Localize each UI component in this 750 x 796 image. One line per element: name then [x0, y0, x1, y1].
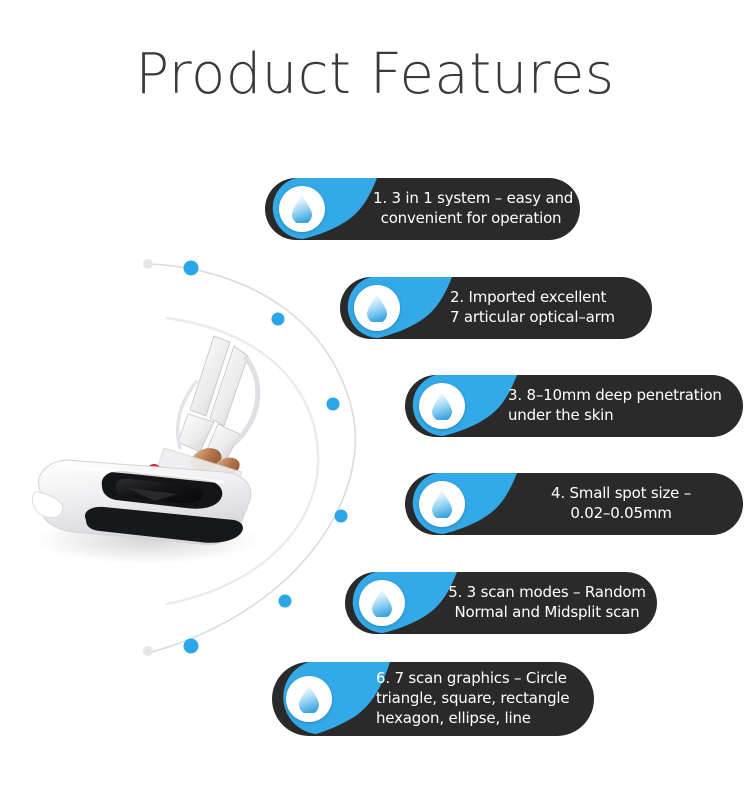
- optical-arm: [147, 336, 258, 488]
- product-features-infographic: Product Features: [0, 0, 750, 796]
- feature-line: triangle, square, rectangle: [376, 689, 578, 709]
- arc-dot-6: [184, 639, 199, 654]
- feature-icon-1: [279, 186, 325, 232]
- feature-text-1: 1. 3 in 1 system – easy and convenient f…: [373, 178, 569, 240]
- feature-line: Normal and Midsplit scan: [445, 603, 649, 623]
- feature-pill-5[interactable]: 5. 3 scan modes – Random Normal and Mids…: [345, 572, 657, 634]
- feature-text-3: 3. 8–10mm deep penetration under the ski…: [508, 375, 734, 437]
- water-drop-icon: [371, 589, 393, 617]
- feature-line: 0.02–0.05mm: [515, 504, 727, 524]
- feature-icon-5: [359, 580, 405, 626]
- feature-icon-3: [419, 383, 465, 429]
- feature-text-2: 2. Imported excellent 7 articular optica…: [450, 277, 642, 339]
- arc-dot-5: [279, 595, 292, 608]
- water-drop-icon: [366, 294, 388, 322]
- feature-line: convenient for operation: [373, 209, 569, 229]
- feature-line: 1. 3 in 1 system – easy and: [373, 189, 569, 209]
- feature-line: hexagon, ellipse, line: [376, 709, 578, 729]
- feature-line: 2. Imported excellent: [450, 288, 642, 308]
- feature-pill-2[interactable]: 2. Imported excellent 7 articular optica…: [340, 277, 652, 339]
- feature-pill-4[interactable]: 4. Small spot size – 0.02–0.05mm: [405, 473, 743, 535]
- arc-dot-2: [272, 313, 285, 326]
- arc-dot-gray-bottom: [143, 646, 153, 656]
- feature-icon-2: [354, 285, 400, 331]
- feature-pill-6[interactable]: 6. 7 scan graphics – Circle triangle, sq…: [272, 662, 594, 736]
- feature-text-4: 4. Small spot size – 0.02–0.05mm: [515, 473, 727, 535]
- feature-icon-6: [286, 676, 332, 722]
- page-title: Product Features: [0, 44, 750, 106]
- arc-dot-4: [335, 510, 348, 523]
- feature-pill-1[interactable]: 1. 3 in 1 system – easy and convenient f…: [265, 178, 581, 240]
- feature-line: 7 articular optical–arm: [450, 308, 642, 328]
- water-drop-icon: [291, 195, 313, 223]
- arc-dot-3: [327, 398, 340, 411]
- water-drop-icon: [431, 490, 453, 518]
- feature-line: 3. 8–10mm deep penetration: [508, 386, 734, 406]
- product-image: [28, 330, 290, 582]
- feature-text-6: 6. 7 scan graphics – Circle triangle, sq…: [376, 662, 578, 736]
- arc-dot-1: [184, 261, 199, 276]
- water-drop-icon: [298, 685, 320, 713]
- feature-line: 5. 3 scan modes – Random: [445, 583, 649, 603]
- feature-text-5: 5. 3 scan modes – Random Normal and Mids…: [445, 572, 649, 634]
- feature-line: under the skin: [508, 406, 734, 426]
- feature-icon-4: [419, 481, 465, 527]
- feature-line: 6. 7 scan graphics – Circle: [376, 669, 578, 689]
- water-drop-icon: [431, 392, 453, 420]
- feature-pill-3[interactable]: 3. 8–10mm deep penetration under the ski…: [405, 375, 743, 437]
- arc-dot-gray-top: [143, 259, 153, 269]
- feature-line: 4. Small spot size –: [515, 484, 727, 504]
